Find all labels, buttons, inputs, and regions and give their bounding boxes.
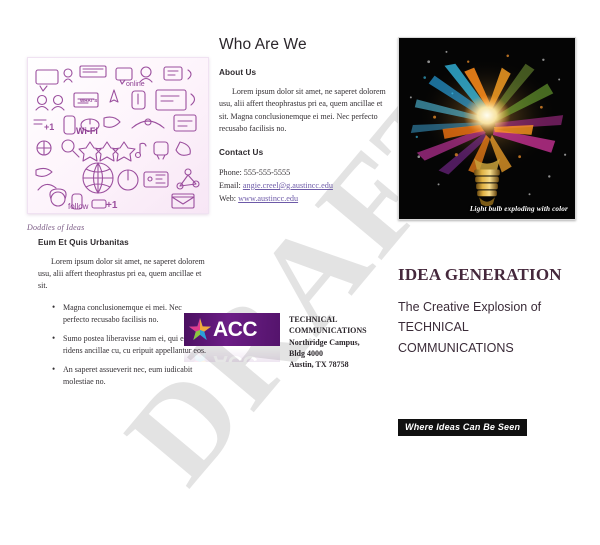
middle-column: Who Are We About Us Lorem ipsum dolor si… xyxy=(219,36,391,205)
acc-star-icon xyxy=(188,317,212,343)
website-link[interactable]: www.austincc.edu xyxy=(238,194,298,203)
right-headline-block: IDEA GENERATION The Creative Explosion o… xyxy=(398,265,584,358)
acc-logo-block: ACC ACC TECHNICAL COMMUNICATIONS xyxy=(184,313,394,371)
lightbulb-photo: Light bulb exploding with color xyxy=(398,37,576,220)
web-label: Web: xyxy=(219,194,236,203)
doodle-illustration-svg: +1 xyxy=(28,58,208,213)
acc-star-icon-reflection xyxy=(188,350,212,363)
doodle-label-whats: WHAT'S xyxy=(80,98,97,103)
acc-wordmark-reflection: ACC xyxy=(213,352,257,362)
address-line: Bldg 4000 xyxy=(289,348,367,359)
left-body-text: Eum Et Quis Urbanitas Lorem ipsum dolor … xyxy=(38,238,208,395)
subheadline-line-1: The Creative Explosion of xyxy=(398,300,541,314)
contact-us-heading: Contact Us xyxy=(219,148,391,157)
contact-email-line: Email: angie.creel@g.austincc.edu xyxy=(219,179,391,192)
subheadline: The Creative Explosion of TECHNICAL COMM… xyxy=(398,297,584,358)
acc-logo: ACC xyxy=(184,313,280,346)
address-line: Northridge Campus, xyxy=(289,337,367,348)
right-column: Light bulb exploding with color xyxy=(398,37,576,220)
phone-value: 555-555-5555 xyxy=(244,168,290,177)
address-line: TECHNICAL xyxy=(289,314,367,325)
address-line: COMMUNICATIONS xyxy=(289,325,367,336)
lightbulb-explosion-svg xyxy=(399,38,575,219)
brochure-page: DRAFT xyxy=(0,0,600,465)
subheadline-line-3: COMMUNICATIONS xyxy=(398,341,514,355)
email-label: Email: xyxy=(219,181,241,190)
svg-text:+1: +1 xyxy=(106,200,118,211)
headline-idea-generation: IDEA GENERATION xyxy=(398,265,584,285)
tagline-banner: Where Ideas Can Be Seen xyxy=(398,419,527,436)
acc-logo-wrapper: ACC ACC xyxy=(184,313,280,362)
doodle-caption: Doddles of Ideas xyxy=(27,223,207,232)
doodle-image: +1 xyxy=(27,57,209,214)
left-paragraph: Lorem ipsum dolor sit amet, ne saperet d… xyxy=(38,256,208,292)
left-section-heading: Eum Et Quis Urbanitas xyxy=(38,238,208,247)
contact-details: Phone: 555-555-5555 Email: angie.creel@g… xyxy=(219,166,391,206)
photo-caption: Light bulb exploding with color xyxy=(470,205,568,213)
acc-logo-reflection: ACC xyxy=(184,346,280,362)
email-link[interactable]: angie.creel@g.austincc.edu xyxy=(243,181,333,190)
about-us-heading: About Us xyxy=(219,68,391,77)
left-bullet-list: Magna conclusionemque ei mei. Nec perfec… xyxy=(38,302,208,388)
doodle-label-wifi: Wi-Fi xyxy=(76,126,98,136)
phone-label: Phone: xyxy=(219,168,242,177)
contact-web-line: Web: www.austincc.edu xyxy=(219,192,391,205)
acc-address: TECHNICAL COMMUNICATIONS Northridge Camp… xyxy=(289,313,367,371)
doodle-label-online: online xyxy=(126,81,145,88)
doodle-label-follow: follow xyxy=(68,202,89,211)
left-column: +1 xyxy=(27,57,207,232)
page-title: Who Are We xyxy=(219,36,391,54)
address-line: Austin, TX 78758 xyxy=(289,359,367,370)
about-us-paragraph: Lorem ipsum dolor sit amet, ne saperet d… xyxy=(219,86,391,136)
svg-text:+1: +1 xyxy=(44,122,54,132)
contact-phone-line: Phone: 555-555-5555 xyxy=(219,166,391,179)
subheadline-line-2: TECHNICAL xyxy=(398,320,469,334)
acc-wordmark: ACC xyxy=(213,319,257,340)
